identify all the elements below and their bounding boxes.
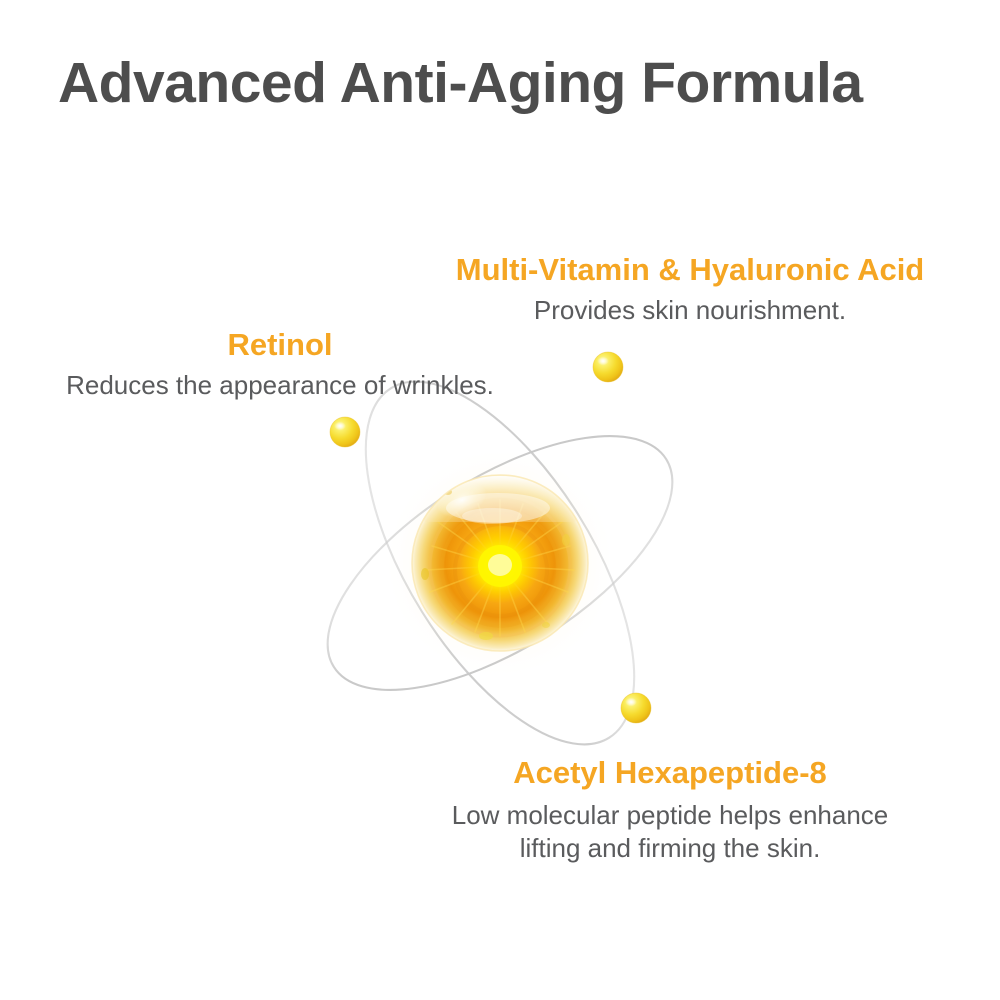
callout-multi-vitamin-description-line-1: Provides skin nourishment. xyxy=(534,295,846,325)
callout-acetyl-hexapeptide-description-line-1: Low molecular peptide helps enhance xyxy=(380,799,960,833)
callout-acetyl-hexapeptide-description: Low molecular peptide helps enhance lift… xyxy=(380,799,960,867)
bead-vitamin xyxy=(593,352,623,382)
golden-serum-droplet xyxy=(412,475,588,651)
callout-retinol-title: Retinol xyxy=(10,327,550,364)
callout-multi-vitamin-title: Multi-Vitamin & Hyaluronic Acid xyxy=(390,252,990,289)
callout-retinol-description: Reduces the appearance of wrinkles. xyxy=(10,369,550,403)
bead-retinol xyxy=(330,417,360,447)
callout-retinol-description-line-1: Reduces the appearance of wrinkles. xyxy=(66,370,494,400)
page-title: Advanced Anti-Aging Formula xyxy=(58,52,938,116)
bead-peptide xyxy=(621,693,651,723)
poster-canvas: Advanced Anti-Aging Formula xyxy=(0,0,1000,1000)
callout-acetyl-hexapeptide-title: Acetyl Hexapeptide-8 xyxy=(380,755,960,792)
callout-multi-vitamin-description: Provides skin nourishment. xyxy=(390,294,990,328)
callout-acetyl-hexapeptide-description-line-2: lifting and firming the skin. xyxy=(380,832,960,866)
callout-multi-vitamin: Multi-Vitamin & Hyaluronic Acid Provides… xyxy=(390,252,990,327)
callout-acetyl-hexapeptide: Acetyl Hexapeptide-8 Low molecular pepti… xyxy=(380,755,960,866)
callout-retinol: Retinol Reduces the appearance of wrinkl… xyxy=(10,327,550,402)
